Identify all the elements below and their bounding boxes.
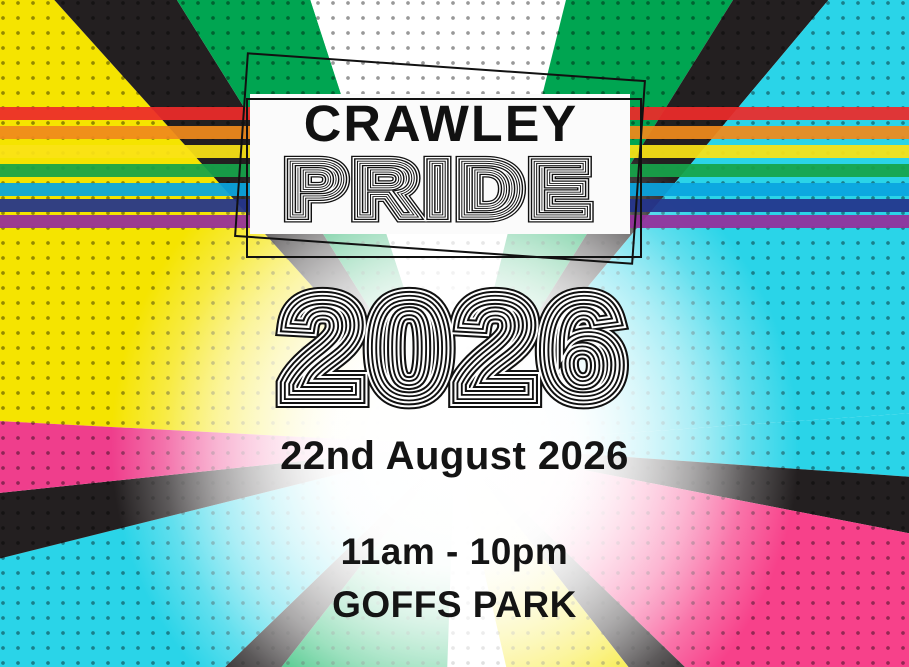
year-stroke-6: 2026 (0, 278, 909, 420)
pride-poster: CRAWLEY PRIDE PRIDE PRIDE PRIDE PRIDE PR… (0, 0, 909, 667)
event-time: 11am - 10pm (0, 531, 909, 573)
crawley-pride-logo: CRAWLEY PRIDE PRIDE PRIDE PRIDE PRIDE PR… (232, 58, 650, 274)
logo-word-crawley: CRAWLEY (228, 98, 654, 149)
pride-stroke-6: PRIDE (199, 150, 684, 228)
logo-word-pride: PRIDE PRIDE PRIDE PRIDE PRIDE PRIDE (232, 150, 650, 234)
year-2026: 2026 2026 2026 2026 2026 2026 (0, 278, 909, 413)
event-venue: GOFFS PARK (0, 584, 909, 626)
event-date: 22nd August 2026 (0, 434, 909, 479)
